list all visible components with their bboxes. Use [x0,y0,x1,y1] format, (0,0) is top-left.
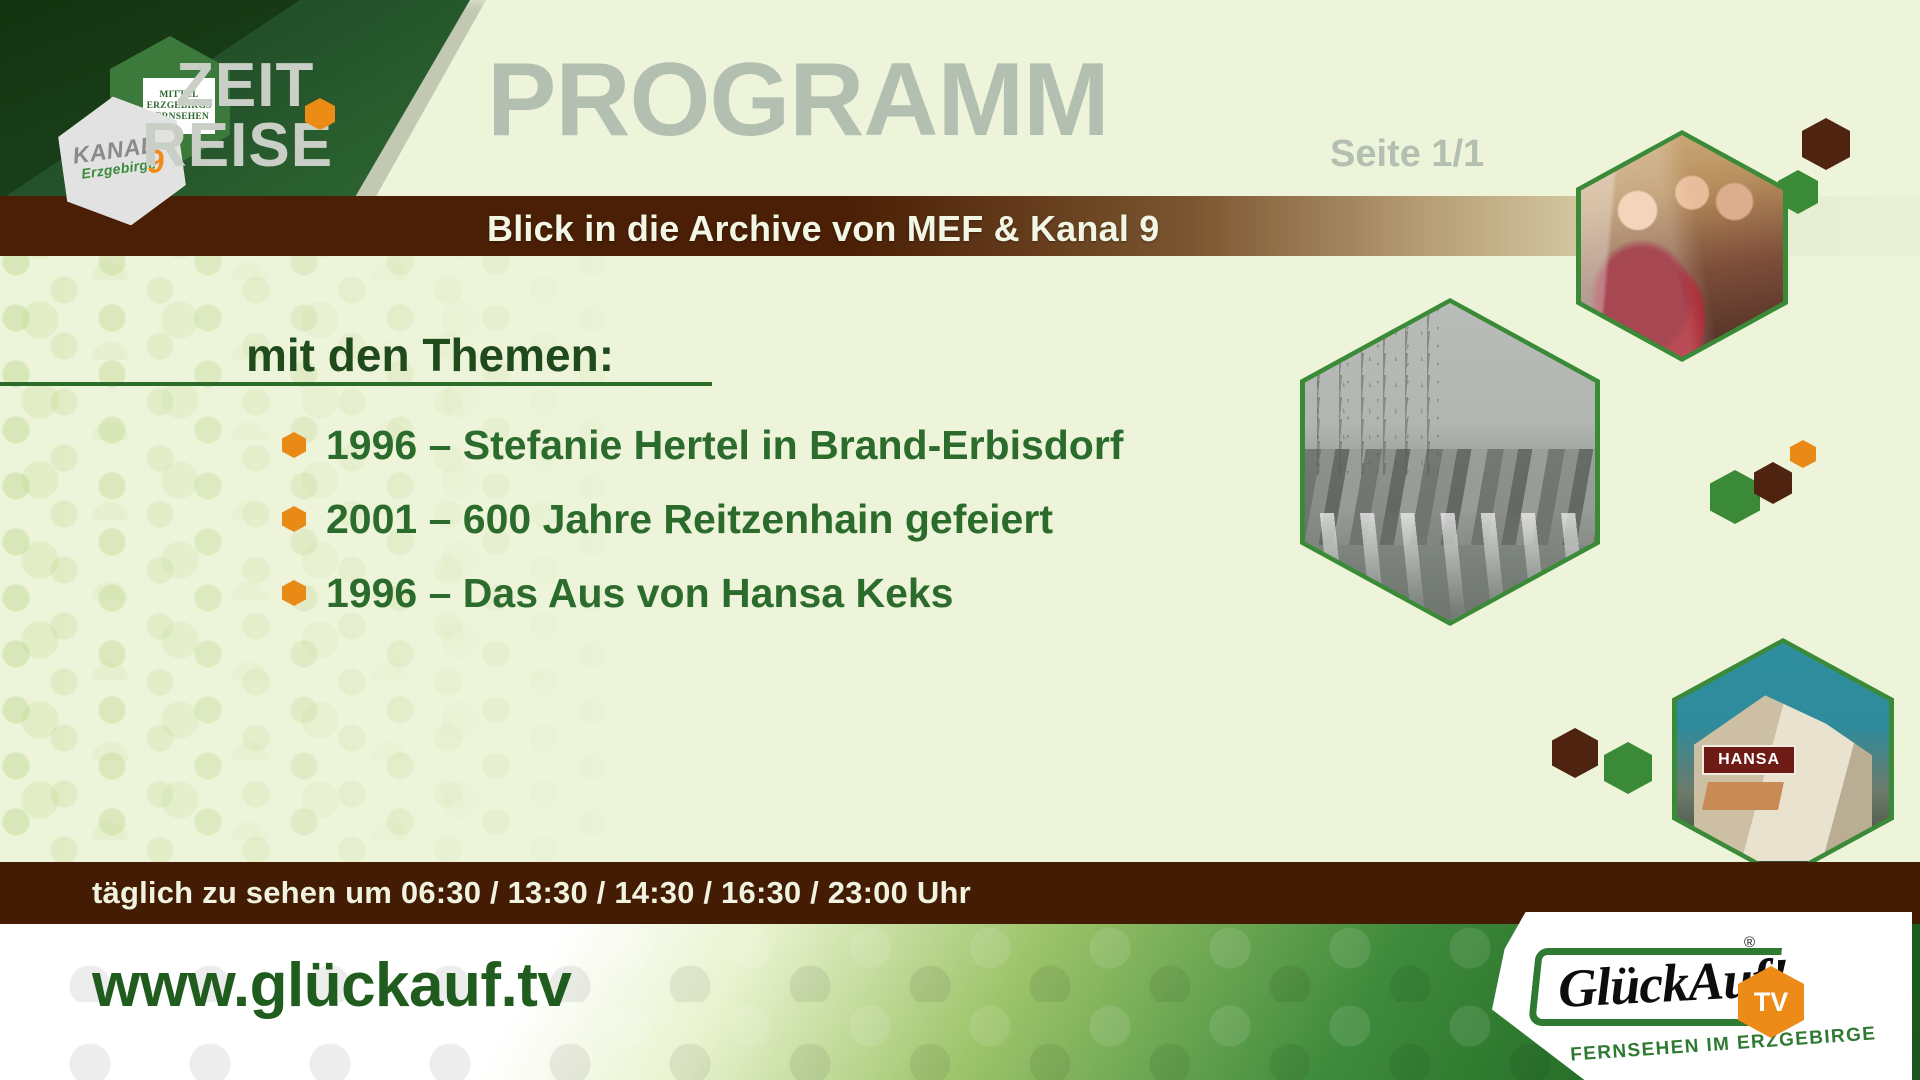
glueckauf-tv-logo: GlückAuf! ® TV FERNSEHEN IM ERZGEBIRGE [1492,912,1912,1080]
photo-image-foggy-road [1305,303,1595,621]
topic-label: 1996 – Das Aus von Hansa Keks [326,570,953,617]
decorative-hexagon-brown [1802,118,1850,170]
page-title: PROGRAMM [487,48,1109,152]
topics-heading: mit den Themen: [246,328,614,382]
programm-slide: MITTEL ERZGEBIRGS FERNSEHEN KANAL Erzgeb… [0,0,1920,1080]
photo-image-hansa-building: HANSA [1677,643,1889,875]
topics-heading-rule [0,382,712,386]
decorative-hexagon-green [1604,742,1652,794]
photo-trees-overlay [1317,309,1445,474]
subtitle-text: Blick in die Archive von MEF & Kanal 9 [487,208,1159,250]
hexagon-bullet-icon [282,506,306,532]
website-url: www.glückauf.tv [92,950,571,1021]
photo-hexagon-hansa-building: HANSA [1672,638,1894,880]
photo-hexagon-foggy-road [1300,298,1600,626]
photo-building-tile [1702,782,1784,810]
list-item: 2001 – 600 Jahre Reitzenhain gefeiert [282,482,1282,556]
hexagon-bullet-icon [282,432,306,458]
page-indicator: Seite 1/1 [1330,133,1484,176]
hansa-sign: HANSA [1702,745,1795,775]
decorative-hexagon-green [1710,470,1760,524]
topics-list: 1996 – Stefanie Hertel in Brand-Erbisdor… [282,408,1282,630]
broadcast-times-text: täglich zu sehen um 06:30 / 13:30 / 14:3… [92,875,971,911]
glueckauf-tagline: FERNSEHEN IM ERZGEBIRGE [1570,1023,1877,1066]
list-item: 1996 – Das Aus von Hansa Keks [282,556,1282,630]
decorative-hexagon-orange [1790,440,1816,468]
photo-hexagon-concert [1576,130,1788,362]
decorative-hexagon-brown [1552,728,1598,778]
topic-label: 2001 – 600 Jahre Reitzenhain gefeiert [326,496,1053,543]
topic-label: 1996 – Stefanie Hertel in Brand-Erbisdor… [326,422,1123,469]
hexagon-bullet-icon [282,580,306,606]
photo-image-concert [1581,135,1783,357]
registered-trademark-icon: ® [1744,934,1755,951]
show-title-line2: REISE [142,118,333,174]
list-item: 1996 – Stefanie Hertel in Brand-Erbisdor… [282,408,1282,482]
